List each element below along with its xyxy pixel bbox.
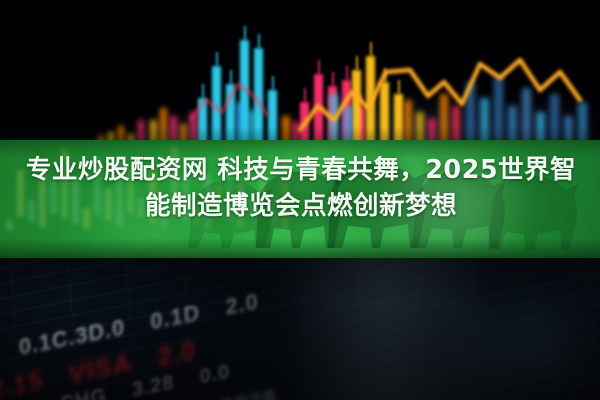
ticker-board-region: 0.00SEC0.1C.3D.00.1D2.03.0N.22.15VISA2.0…	[0, 252, 600, 400]
ticker-board-rows: 0.00SEC0.1C.3D.00.1D2.03.0N.22.15VISA2.0…	[0, 252, 600, 400]
ticker-cell: 0.1D	[150, 299, 201, 335]
headline-line-1: 专业炒股配资网 科技与青春共舞，2025世界智	[0, 152, 600, 188]
headline-text: 专业炒股配资网 科技与青春共舞，2025世界智 能制造博览会点燃创新梦想	[0, 152, 600, 224]
ticker-cell: 0.0	[199, 361, 231, 390]
ticker-cell: 2.15	[0, 365, 44, 400]
green-band-bottom-edge	[0, 238, 600, 258]
ticker-cell: 2.0	[225, 288, 260, 321]
candlestick-chart-region	[0, 0, 600, 152]
headline-line-2: 能制造博览会点燃创新梦想	[0, 188, 600, 224]
banner-image: 0.00SEC0.1C.3D.00.1D2.03.0N.22.15VISA2.0…	[0, 0, 600, 400]
